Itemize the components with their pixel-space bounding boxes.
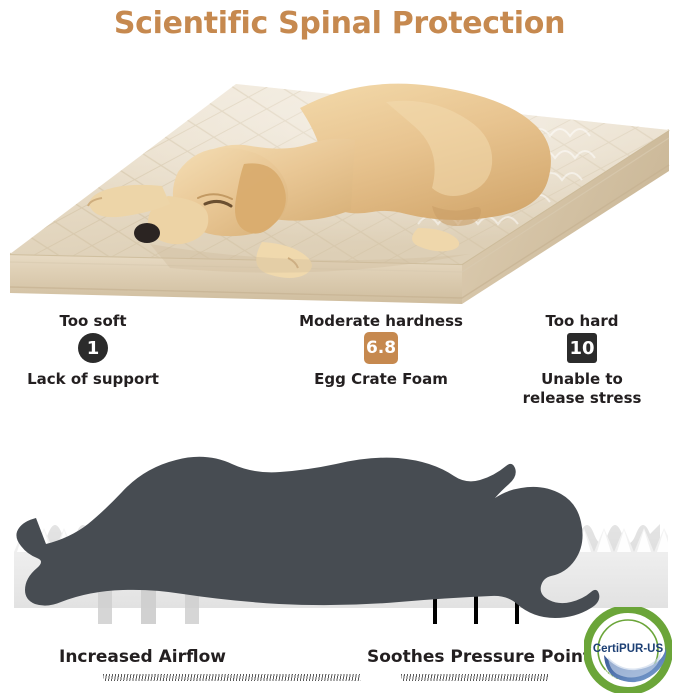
scale-middle-top-label: Moderate hardness xyxy=(275,312,487,331)
scale-left-top-label: Too soft xyxy=(0,312,186,331)
certipur-brand-text: CertiPUR-US xyxy=(593,643,664,655)
dog-bed-illustration xyxy=(0,46,679,304)
page-title: Scientific Spinal Protection xyxy=(0,0,679,46)
scale-connector-right xyxy=(401,674,549,681)
scale-stop-right: Too hard 10 Unable to release stress xyxy=(485,312,679,408)
scale-right-bottom-label-line2: release stress xyxy=(485,389,679,408)
hardness-scale: Too soft 1 Lack of support Moderate hard… xyxy=(0,312,679,422)
scale-stop-middle: Moderate hardness 6.8 Egg Crate Foam xyxy=(275,312,487,389)
scale-connector-left xyxy=(103,674,361,681)
scale-left-bottom-label: Lack of support xyxy=(0,370,186,389)
scale-middle-bottom-label: Egg Crate Foam xyxy=(275,370,487,389)
scale-right-bottom-label-line1: Unable to xyxy=(485,370,679,389)
label-increased-airflow: Increased Airflow xyxy=(59,647,226,667)
certipur-us-badge: COMPLIANT CERTIFIED FLEXIBLE POLYURETHAN… xyxy=(584,607,672,693)
scale-stop-left: Too soft 1 Lack of support xyxy=(0,312,186,389)
scale-left-value-badge: 1 xyxy=(78,333,108,363)
egg-crate-foam-cross-section xyxy=(0,424,679,639)
scale-right-top-label: Too hard xyxy=(485,312,679,331)
scale-right-value-badge: 10 xyxy=(567,333,597,363)
dog-bed-photo xyxy=(0,46,679,304)
scale-middle-value-badge: 6.8 xyxy=(364,332,398,364)
label-soothes-pressure-points: Soothes Pressure Points xyxy=(367,647,601,667)
